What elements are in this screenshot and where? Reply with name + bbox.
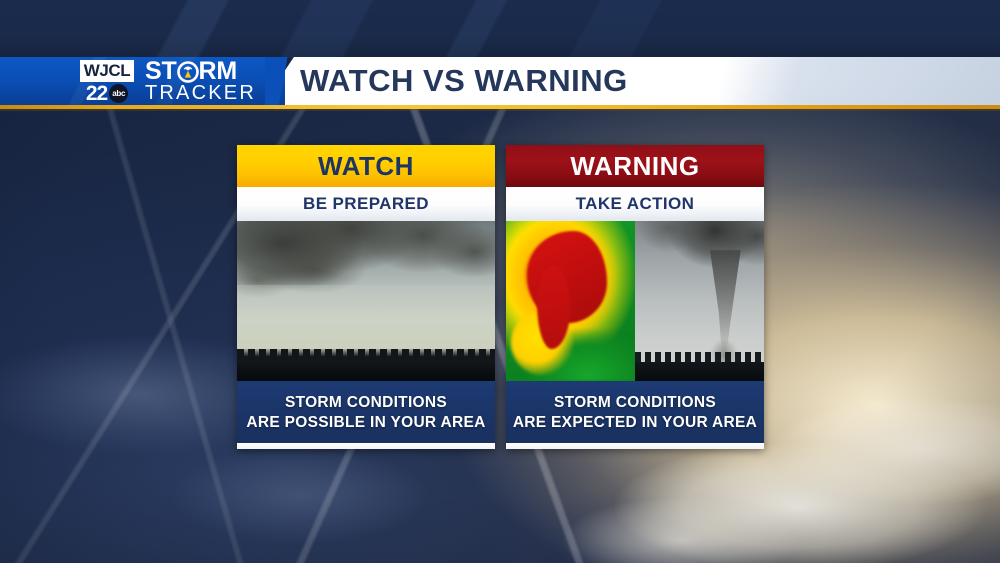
watch-caption-line-1: STORM CONDITIONS	[285, 394, 447, 412]
header-texture	[0, 0, 1000, 58]
photo-split-container	[506, 221, 764, 381]
photo-ground	[237, 360, 495, 381]
radar-and-tornado-photo	[506, 221, 764, 381]
station-id-block: WJCL 22 abc	[76, 60, 138, 104]
tornado-treeline	[635, 352, 764, 362]
page-title: WATCH VS WARNING	[300, 57, 628, 105]
gold-divider-shadow	[0, 109, 1000, 111]
abc-network-label: abc	[112, 89, 125, 98]
watch-card-caption: STORM CONDITIONS ARE POSSIBLE IN YOUR AR…	[237, 381, 495, 443]
watch-card-footer-bar	[237, 443, 495, 449]
photo-treeline	[237, 349, 495, 360]
warning-card-caption: STORM CONDITIONS ARE EXPECTED IN YOUR AR…	[506, 381, 764, 443]
header-dark-strip	[0, 0, 1000, 58]
watch-card: WATCH BE PREPARED STORM CONDITIONS ARE P…	[237, 145, 495, 449]
stormtracker-wordmark: ST RM TRACKER	[145, 60, 256, 102]
storm-row: ST RM	[145, 60, 256, 83]
warning-caption-line-2: ARE EXPECTED IN YOUR AREA	[513, 414, 757, 432]
storm-text-last: RM	[199, 60, 237, 83]
warning-card-title: WARNING	[506, 145, 764, 187]
warning-card-footer-bar	[506, 443, 764, 449]
warning-card-subtitle: TAKE ACTION	[506, 187, 764, 221]
channel-number: 22	[86, 83, 107, 104]
storm-text-first: ST	[145, 60, 177, 83]
abc-network-icon: abc	[109, 84, 128, 103]
warning-caption-line-1: STORM CONDITIONS	[554, 394, 716, 412]
storm-clouds-photo	[237, 221, 495, 381]
photo-horizon-haze	[237, 285, 495, 359]
channel-row: 22 abc	[86, 83, 128, 104]
weather-graphic-stage: WATCH VS WARNING WJCL 22 abc ST	[0, 0, 1000, 563]
station-logo[interactable]: WJCL 22 abc ST RM	[76, 58, 276, 105]
tornado-ground	[635, 362, 764, 381]
tracker-text: TRACKER	[145, 84, 256, 102]
radar-reflectivity-panel	[506, 221, 635, 381]
radar-icon	[177, 61, 199, 83]
warning-card: WARNING TAKE ACTION STORM	[506, 145, 764, 449]
watch-card-title: WATCH	[237, 145, 495, 187]
tornado-photo-panel	[635, 221, 764, 381]
watch-caption-line-2: ARE POSSIBLE IN YOUR AREA	[246, 414, 485, 432]
watch-card-subtitle: BE PREPARED	[237, 187, 495, 221]
call-sign-label: WJCL	[80, 60, 135, 82]
tornado-wall-cloud	[635, 221, 764, 291]
